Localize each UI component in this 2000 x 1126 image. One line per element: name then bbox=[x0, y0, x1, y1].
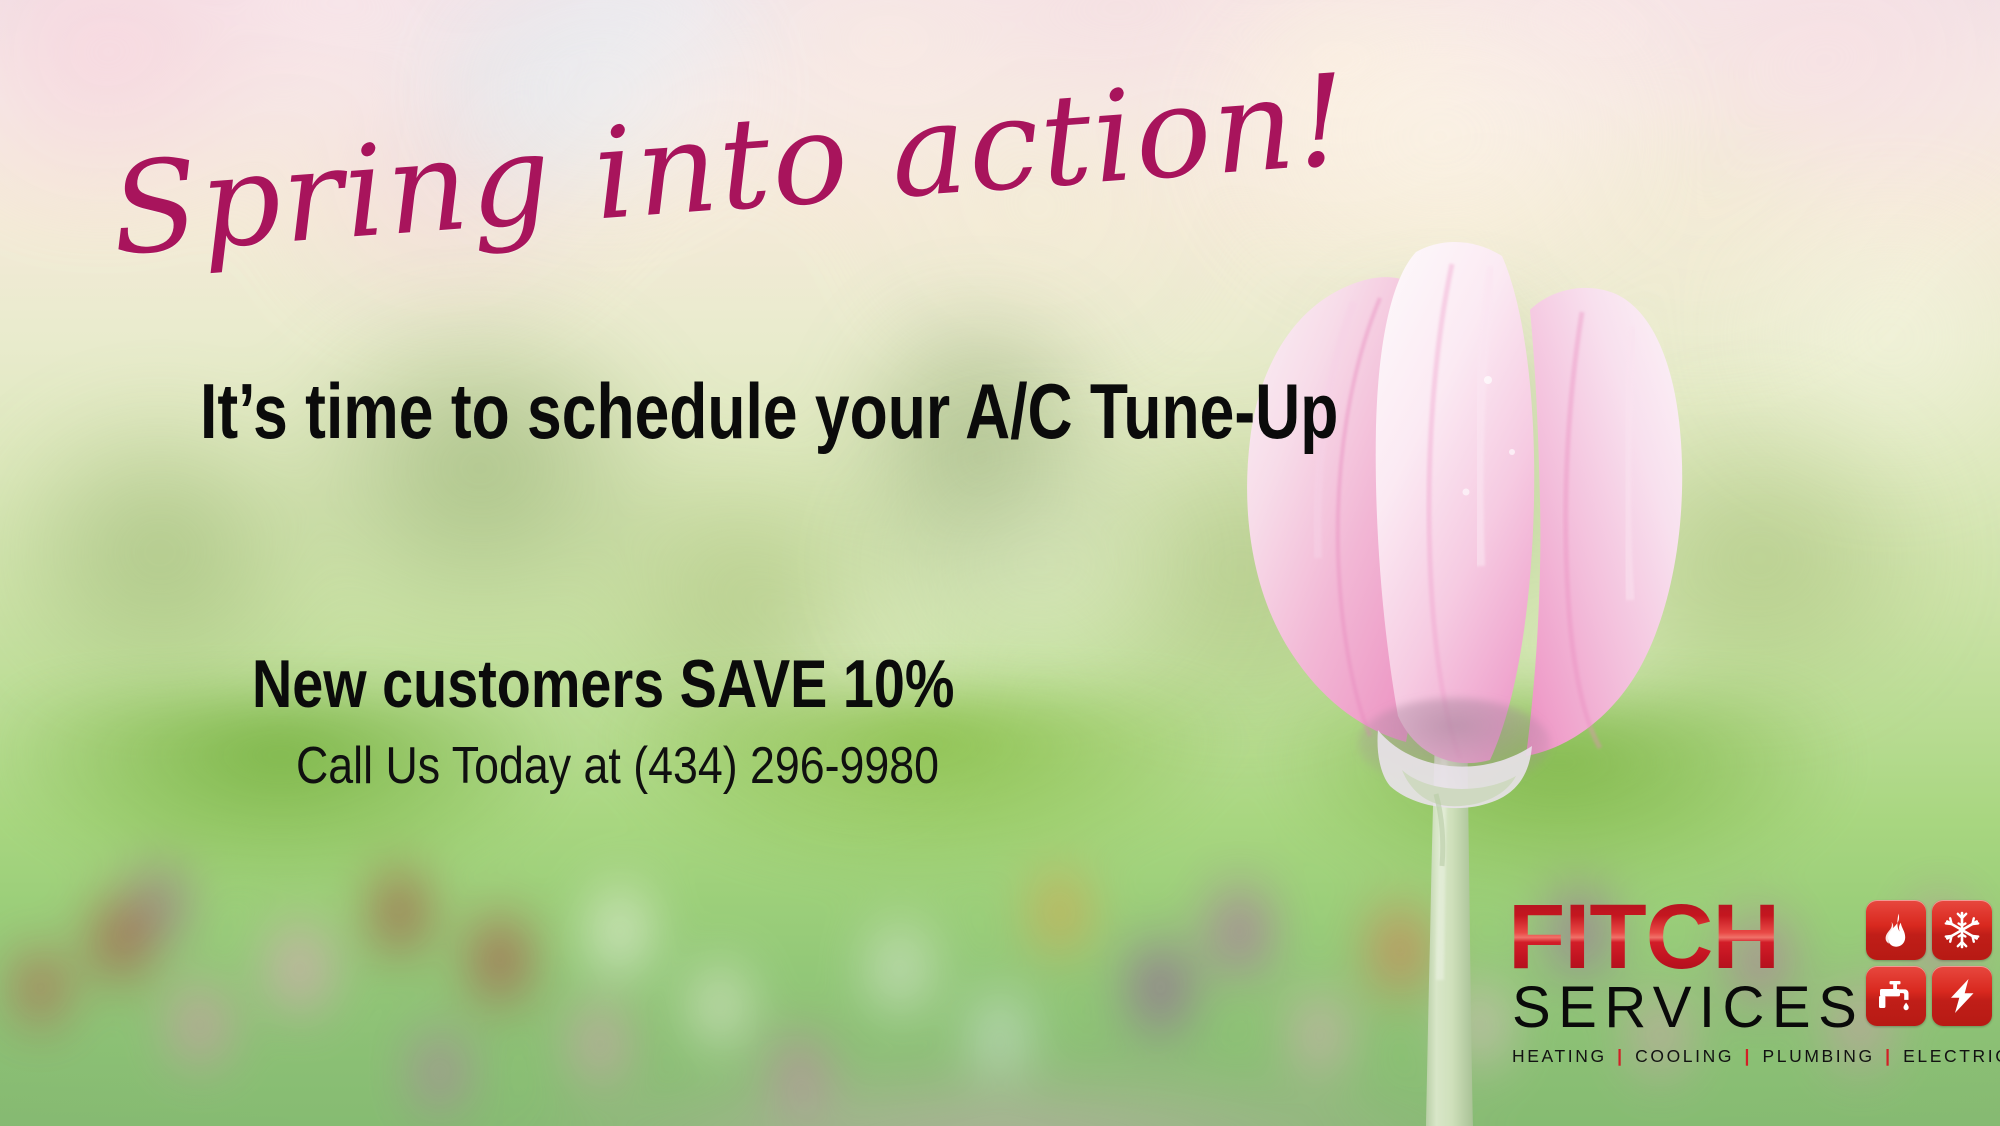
logo-brand-primary: FITCH bbox=[1508, 898, 1865, 977]
offer-text: New customers SAVE 10% bbox=[252, 650, 954, 718]
tagline-separator-1: | bbox=[1614, 1046, 1628, 1066]
logo-service-icons bbox=[1866, 900, 1992, 1026]
lightning-bolt-icon bbox=[1942, 976, 1982, 1016]
fitch-services-logo[interactable]: FITCH SERVICES bbox=[1508, 898, 1978, 1067]
faucet-icon bbox=[1876, 976, 1916, 1016]
logo-tagline: HEATING | COOLING | PLUMBING | ELECTRICA… bbox=[1508, 1046, 1978, 1067]
tagline-plumbing: PLUMBING bbox=[1762, 1046, 1874, 1066]
lightning-bolt-icon-tile bbox=[1932, 966, 1992, 1026]
main-headline: It’s time to schedule your A/C Tune-Up bbox=[200, 372, 1338, 450]
call-to-action-phone: Call Us Today at (434) 296-9980 bbox=[296, 740, 939, 792]
spring-promo-banner: Spring into action! It’s time to schedul… bbox=[0, 0, 2000, 1126]
snowflake-icon bbox=[1942, 910, 1982, 950]
logo-main-row: FITCH SERVICES bbox=[1508, 898, 1978, 1037]
tulip-petal-center bbox=[1376, 242, 1535, 763]
tagline-cooling: COOLING bbox=[1635, 1046, 1734, 1066]
flame-icon bbox=[1876, 910, 1916, 950]
tagline-separator-3: | bbox=[1882, 1046, 1896, 1066]
tagline-heating: HEATING bbox=[1512, 1046, 1607, 1066]
tagline-electrical: ELECTRICAL bbox=[1903, 1046, 2000, 1066]
snowflake-icon-tile bbox=[1932, 900, 1992, 960]
faucet-icon-tile bbox=[1866, 966, 1926, 1026]
tulip-petal-right bbox=[1526, 288, 1682, 756]
logo-wordmark: FITCH SERVICES bbox=[1508, 898, 1858, 1037]
tagline-separator-2: | bbox=[1742, 1046, 1756, 1066]
flame-icon-tile bbox=[1866, 900, 1926, 960]
